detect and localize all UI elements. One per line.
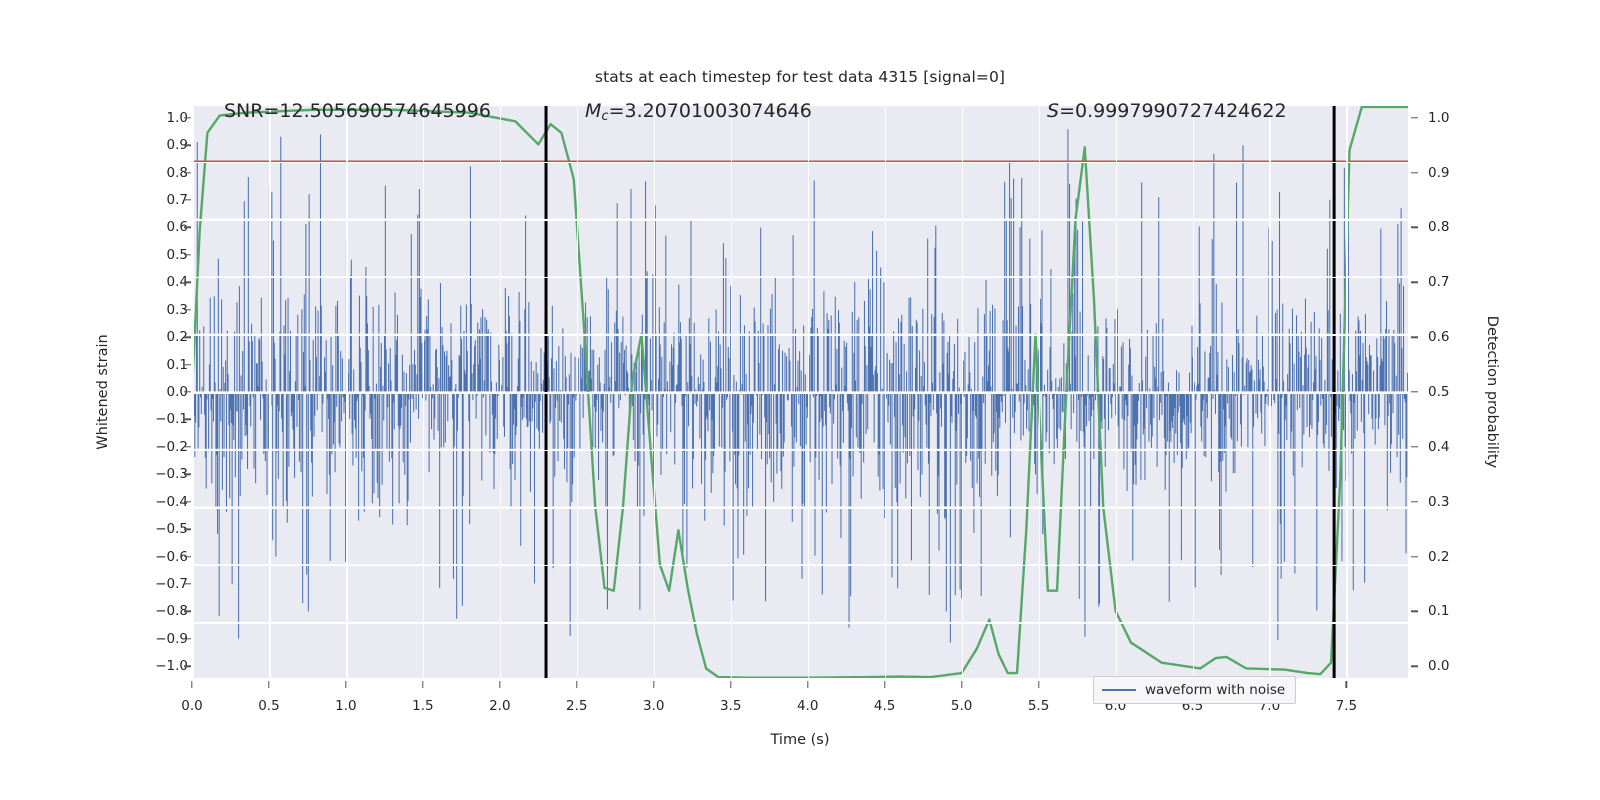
y-tick-mark-right <box>1411 446 1418 447</box>
x-tick-label: 2.0 <box>470 698 530 714</box>
gridline-v <box>1269 104 1271 680</box>
y-tick-mark-right <box>1411 556 1418 557</box>
annotation-chirp-mass-value: 3.20701003074646 <box>624 100 811 122</box>
y-tick-label-left: 1.0 <box>128 110 188 126</box>
gridline-v <box>962 104 964 680</box>
x-tick-mark <box>576 681 577 688</box>
y-tick-label-right: 0.9 <box>1428 165 1488 181</box>
gridline-h <box>192 219 1408 221</box>
gridline-v <box>654 104 656 680</box>
y-tick-mark-left <box>184 364 191 365</box>
y-tick-mark-left <box>184 528 191 529</box>
y-tick-label-left: 0.4 <box>128 274 188 290</box>
y-tick-label-left: 0.3 <box>128 302 188 318</box>
annotation-detection-statistic-symbol: S <box>1047 100 1059 122</box>
x-tick-label: 3.5 <box>701 698 761 714</box>
y-tick-mark-left <box>184 391 191 392</box>
y-tick-mark-left <box>184 336 191 337</box>
y-tick-label-left: 0.0 <box>128 384 188 400</box>
y-tick-label-left: −1.0 <box>128 658 188 674</box>
gridline-v <box>808 104 810 680</box>
x-tick-mark <box>884 681 885 688</box>
y-tick-mark-left <box>184 666 191 667</box>
x-tick-label: 2.5 <box>547 698 607 714</box>
y-axis-label-left: Whitened strain <box>95 334 111 449</box>
x-tick-label: 7.5 <box>1316 698 1376 714</box>
y-tick-mark-left <box>184 611 191 612</box>
y-tick-mark-left <box>184 474 191 475</box>
x-tick-mark <box>191 681 192 688</box>
x-tick-mark <box>807 681 808 688</box>
y-tick-label-left: −0.3 <box>128 466 188 482</box>
gridline-h <box>192 392 1408 394</box>
y-tick-mark-left <box>184 638 191 639</box>
y-tick-label-left: −0.4 <box>128 494 188 510</box>
y-tick-label-right: 0.2 <box>1428 549 1488 565</box>
y-tick-mark-left <box>184 556 191 557</box>
y-tick-mark-left <box>184 144 191 145</box>
y-tick-label-right: 0.8 <box>1428 219 1488 235</box>
annotation-chirp-mass: Mc=3.20701003074646 <box>585 100 812 124</box>
y-tick-label-left: −0.5 <box>128 521 188 537</box>
y-tick-label-left: 0.9 <box>128 137 188 153</box>
y-tick-mark-left <box>184 117 191 118</box>
x-tick-mark <box>1346 681 1347 688</box>
y-tick-label-left: −0.1 <box>128 411 188 427</box>
x-tick-mark <box>961 681 962 688</box>
x-tick-mark <box>268 681 269 688</box>
y-tick-label-right: 0.3 <box>1428 494 1488 510</box>
x-tick-mark <box>499 681 500 688</box>
y-tick-mark-left <box>184 446 191 447</box>
annotation-detection-statistic: S=0.9997990727424622 <box>1047 100 1287 122</box>
y-tick-mark-left <box>184 282 191 283</box>
x-tick-label: 0.5 <box>239 698 299 714</box>
gridline-v <box>269 104 271 680</box>
gridline-v <box>1193 104 1195 680</box>
y-tick-mark-left <box>184 254 191 255</box>
gridline-v <box>423 104 425 680</box>
y-tick-mark-left <box>184 501 191 502</box>
gridline-h <box>192 565 1408 567</box>
y-tick-mark-right <box>1411 282 1418 283</box>
gridline-v <box>1116 104 1118 680</box>
gridline-h <box>192 334 1408 336</box>
y-tick-label-right: 0.6 <box>1428 329 1488 345</box>
legend[interactable]: waveform with noise <box>1093 676 1296 704</box>
figure-canvas: stats at each timestep for test data 431… <box>0 0 1600 800</box>
y-tick-mark-left <box>184 309 191 310</box>
gridline-v <box>885 104 887 680</box>
gridline-v <box>1039 104 1041 680</box>
x-tick-mark <box>653 681 654 688</box>
annotation-chirp-mass-subscript: c <box>601 109 608 124</box>
y-tick-mark-right <box>1411 666 1418 667</box>
y-tick-label-right: 0.0 <box>1428 658 1488 674</box>
y-tick-mark-right <box>1411 391 1418 392</box>
y-tick-label-left: −0.6 <box>128 549 188 565</box>
x-tick-mark <box>730 681 731 688</box>
y-tick-label-right: 0.7 <box>1428 274 1488 290</box>
gridline-h <box>192 277 1408 279</box>
plot-area <box>192 104 1408 680</box>
x-tick-label: 1.0 <box>316 698 376 714</box>
gridline-h <box>192 622 1408 624</box>
y-tick-label-right: 0.5 <box>1428 384 1488 400</box>
x-tick-label: 4.0 <box>778 698 838 714</box>
y-tick-label-right: 0.1 <box>1428 603 1488 619</box>
gridline-h <box>192 450 1408 452</box>
y-tick-mark-left <box>184 172 191 173</box>
x-tick-label: 3.0 <box>624 698 684 714</box>
y-tick-label-left: 0.5 <box>128 247 188 263</box>
y-tick-mark-right <box>1411 172 1418 173</box>
x-tick-label: 0.0 <box>162 698 222 714</box>
x-tick-mark <box>1038 681 1039 688</box>
x-tick-label: 4.5 <box>855 698 915 714</box>
annotation-chirp-mass-equals: = <box>609 100 625 122</box>
y-tick-label-left: −0.2 <box>128 439 188 455</box>
gridline-v <box>192 104 194 680</box>
legend-line-icon <box>1102 689 1136 692</box>
x-axis-label: Time (s) <box>0 732 1600 748</box>
x-tick-label: 5.5 <box>1009 698 1069 714</box>
y-tick-label-left: −0.8 <box>128 603 188 619</box>
gridline-v <box>1346 104 1348 680</box>
x-tick-label: 5.0 <box>932 698 992 714</box>
y-tick-label-left: 0.6 <box>128 219 188 235</box>
y-tick-mark-left <box>184 199 191 200</box>
y-tick-label-left: −0.9 <box>128 631 188 647</box>
annotation-detection-statistic-equals: = <box>1059 100 1075 122</box>
annotation-snr: SNR=12.505690574645996 <box>224 100 491 122</box>
y-tick-label-left: −0.7 <box>128 576 188 592</box>
y-tick-label-left: 0.1 <box>128 357 188 373</box>
y-tick-label-right: 1.0 <box>1428 110 1488 126</box>
y-tick-label-left: 0.8 <box>128 165 188 181</box>
gridline-v <box>346 104 348 680</box>
y-tick-mark-left <box>184 583 191 584</box>
annotation-detection-statistic-value: 0.9997990727424622 <box>1075 100 1287 122</box>
y-tick-mark-right <box>1411 336 1418 337</box>
y-tick-label-right: 0.4 <box>1428 439 1488 455</box>
gridline-h <box>192 162 1408 164</box>
gridline-v <box>731 104 733 680</box>
gridline-v <box>577 104 579 680</box>
x-tick-mark <box>422 681 423 688</box>
x-tick-mark <box>345 681 346 688</box>
gridline-h <box>192 507 1408 509</box>
annotation-chirp-mass-symbol: M <box>585 100 601 122</box>
y-tick-mark-left <box>184 419 191 420</box>
y-tick-mark-right <box>1411 501 1418 502</box>
y-tick-mark-right <box>1411 227 1418 228</box>
page-title: stats at each timestep for test data 431… <box>0 68 1600 86</box>
y-tick-mark-right <box>1411 117 1418 118</box>
y-tick-label-left: 0.7 <box>128 192 188 208</box>
legend-label: waveform with noise <box>1145 682 1285 698</box>
y-tick-mark-right <box>1411 611 1418 612</box>
x-tick-label: 1.5 <box>393 698 453 714</box>
gridline-v <box>500 104 502 680</box>
y-tick-mark-left <box>184 227 191 228</box>
y-tick-label-left: 0.2 <box>128 329 188 345</box>
